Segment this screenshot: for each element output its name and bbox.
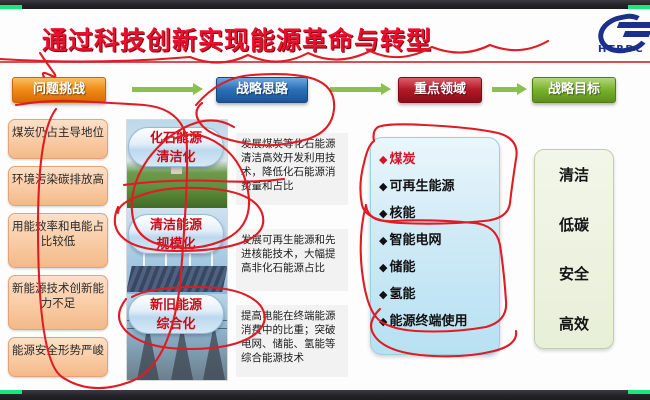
strategy-pill-line2: 规模化 [129, 235, 223, 254]
diamond-bullet-icon: ◆ [379, 234, 387, 247]
player-top-bar [0, 0, 650, 9]
key-area-item: ◆能源终端使用 [379, 308, 499, 335]
logo-wordmark: HTRDC [598, 44, 644, 55]
strategy-description: 发展煤炭等化石能源清洁高效开发利用技术，降低化石能源消费量和占比 [236, 133, 348, 205]
diamond-bullet-icon: ◆ [379, 207, 387, 220]
arrow-strategy-to-areas-icon [330, 87, 382, 92]
key-area-label: 可再生能源 [389, 179, 454, 194]
player-accent-top-left [0, 5, 22, 9]
logo-stripe-icon [617, 22, 650, 28]
header-problem-challenges: 问题挑战 [12, 77, 106, 103]
key-areas-panel: ◆煤炭 ◆可再生能源 ◆核能 ◆智能电网 ◆储能 ◆氢能 ◆能源终端使用 [370, 137, 500, 355]
key-area-item: ◆可再生能源 [379, 173, 499, 200]
strategy-pill-clean-scale: 清洁能源 规模化 [128, 214, 224, 254]
key-area-item: ◆氢能 [379, 281, 499, 308]
strategy-pill-line1: 新旧能源 [129, 296, 223, 315]
diamond-bullet-icon: ◆ [379, 153, 387, 166]
key-area-label: 氢能 [389, 287, 415, 302]
key-area-item: ◆储能 [379, 254, 499, 281]
key-area-label: 能源终端使用 [389, 314, 467, 329]
htrdc-logo: HTRDC [594, 15, 650, 57]
goal-item: 高效 [559, 313, 589, 334]
strategy-description: 发展可再生能源和先进核能技术，大幅提高非化石能源占比 [236, 229, 348, 291]
logo-stripe-secondary-icon [623, 31, 650, 37]
key-area-label: 核能 [389, 206, 415, 221]
problem-item: 能源安全形势严峻 [8, 337, 108, 377]
key-area-label: 智能电网 [389, 233, 441, 248]
arrow-problems-to-strategy-icon [132, 87, 194, 92]
player-accent-bottom-left [0, 390, 22, 394]
header-strategic-goals: 战略目标 [532, 77, 616, 103]
player-accent-top-right [628, 5, 650, 9]
key-area-item: ◆煤炭 [379, 146, 499, 173]
strategic-goals-panel: 清洁 低碳 安全 高效 [534, 149, 614, 349]
presentation-slide: 通过科技创新实现能源革命与转型 HTRDC 问题挑战 战略思路 重点领域 战略目… [0, 9, 650, 390]
arrow-areas-to-goals-icon [492, 87, 518, 92]
strategy-description: 提高电能在终端能源消费中的比重；突破电网、储能、氢能等综合能源技术 [236, 305, 348, 377]
key-area-label: 煤炭 [389, 152, 415, 167]
page-title: 通过科技创新实现能源革命与转型 [42, 21, 432, 57]
problem-item: 用能效率和电能占比较低 [8, 213, 108, 268]
player-accent-bottom-right [628, 390, 650, 394]
problem-item: 新能源技术创新能力不足 [8, 275, 108, 330]
strategy-pill-line2: 清洁化 [129, 148, 223, 167]
diamond-bullet-icon: ◆ [379, 261, 387, 274]
key-area-label: 储能 [389, 260, 415, 275]
problem-item: 环境污染碳排放高 [8, 166, 108, 206]
strategy-pill-line1: 化石能源 [129, 129, 223, 148]
strategy-pill-integrated: 新旧能源 综合化 [128, 294, 224, 334]
goal-item: 安全 [559, 263, 589, 284]
problem-item: 煤炭仍占主导地位 [8, 119, 108, 159]
goal-item: 低碳 [559, 214, 589, 235]
strategy-pill-fossil-clean: 化石能源 清洁化 [128, 127, 224, 167]
title-underline [0, 61, 650, 63]
header-key-areas: 重点领域 [398, 77, 482, 103]
player-bottom-bar[interactable] [0, 390, 650, 400]
strategy-pill-line2: 综合化 [129, 315, 223, 334]
solar-panel-icon [127, 266, 227, 292]
video-player-screen: 通过科技创新实现能源革命与转型 HTRDC 问题挑战 战略思路 重点领域 战略目… [0, 0, 650, 400]
goal-item: 清洁 [559, 164, 589, 185]
key-area-item: ◆核能 [379, 200, 499, 227]
diamond-bullet-icon: ◆ [379, 315, 387, 328]
strategy-pill-line1: 清洁能源 [129, 216, 223, 235]
diamond-bullet-icon: ◆ [379, 180, 387, 193]
header-strategic-approach: 战略思路 [216, 77, 308, 103]
key-area-item: ◆智能电网 [379, 227, 499, 254]
diamond-bullet-icon: ◆ [379, 288, 387, 301]
photo-ground [127, 188, 227, 208]
